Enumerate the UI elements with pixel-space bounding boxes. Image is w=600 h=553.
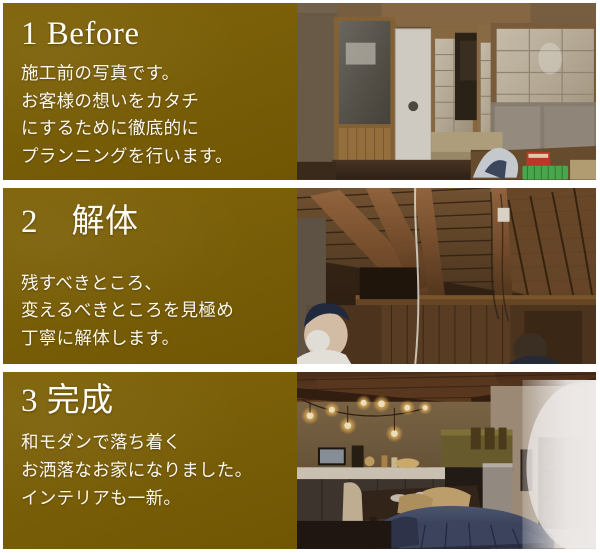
after-photo bbox=[297, 372, 596, 549]
body-line: にするために徹底的に bbox=[21, 115, 297, 143]
body-line: 和モダンで落ち着く bbox=[21, 429, 297, 457]
step-row-completed: 3 完成 和モダンで落ち着く お洒落なお家になりました。 インテリアも一新。 bbox=[3, 372, 596, 549]
step-title-before: 1 Before bbox=[21, 16, 297, 53]
body-line: プランニングを行います。 bbox=[21, 143, 297, 171]
step-text-pane-demolition: 2 解体 残すべきところ、 変えるべきところを見極め 丁寧に解体します。 bbox=[3, 188, 297, 365]
body-line: お客様の想いをカタチ bbox=[21, 88, 297, 116]
demolition-photo bbox=[297, 188, 596, 365]
renovation-steps-graphic: 1 Before 施工前の写真です。 お客様の想いをカタチ にするために徹底的に… bbox=[0, 0, 600, 553]
step-title-demolition: 2 解体 bbox=[21, 204, 297, 241]
step-title-completed: 3 完成 bbox=[21, 383, 297, 420]
step-row-demolition: 2 解体 残すべきところ、 変えるべきところを見極め 丁寧に解体します。 bbox=[3, 188, 596, 365]
body-line: 残すべきところ、 bbox=[21, 270, 297, 298]
step-text-pane-before: 1 Before 施工前の写真です。 お客様の想いをカタチ にするために徹底的に… bbox=[3, 3, 297, 180]
body-line: 丁寧に解体します。 bbox=[21, 325, 297, 353]
body-line: 施工前の写真です。 bbox=[21, 60, 297, 88]
body-line: お洒落なお家になりました。 bbox=[21, 457, 297, 485]
before-photo bbox=[297, 3, 596, 180]
step-body-before: 施工前の写真です。 お客様の想いをカタチ にするために徹底的に プランニングを行… bbox=[21, 60, 297, 171]
step-row-before: 1 Before 施工前の写真です。 お客様の想いをカタチ にするために徹底的に… bbox=[3, 3, 596, 180]
body-line: インテリアも一新。 bbox=[21, 485, 297, 513]
step-body-demolition: 残すべきところ、 変えるべきところを見極め 丁寧に解体します。 bbox=[21, 270, 297, 353]
step-body-completed: 和モダンで落ち着く お洒落なお家になりました。 インテリアも一新。 bbox=[21, 429, 297, 512]
body-line: 変えるべきところを見極め bbox=[21, 297, 297, 325]
step-text-pane-completed: 3 完成 和モダンで落ち着く お洒落なお家になりました。 インテリアも一新。 bbox=[3, 372, 297, 549]
